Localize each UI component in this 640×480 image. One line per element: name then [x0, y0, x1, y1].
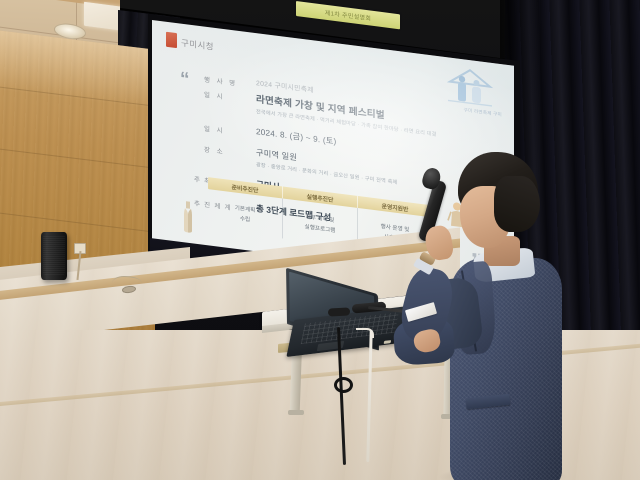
slide-row-label: 일 시	[204, 89, 225, 102]
slide-logo-mark-icon	[166, 32, 177, 48]
laptop-keyboard[interactable]	[301, 312, 399, 344]
presenter-hair-side	[494, 176, 540, 232]
slide-table-cell: 기본계획 수립	[208, 189, 283, 238]
slide-logo-text: 구미시청	[181, 37, 214, 53]
presenter	[398, 150, 598, 480]
slide-row-label: 행 사 명	[204, 74, 238, 88]
slide-date-value: 2024. 8. (금) ~ 9. (토)	[256, 125, 336, 147]
slide-row-label: 장 소	[204, 144, 225, 157]
slide-bottle-illustration-icon	[180, 200, 196, 236]
photo-scene: 구미시청 “ ” 행 사 명 2024 구미시민축제 일 시 라면축제 가창 및…	[0, 0, 640, 480]
laptop-port	[384, 340, 392, 344]
slide-open-quote: “	[180, 70, 190, 90]
desk-mic-base	[328, 307, 350, 316]
cable-coil	[334, 377, 353, 393]
slide-table-cell-line: 수립	[240, 215, 250, 226]
table-foot	[288, 410, 304, 415]
event-banner-text: 제1차 주민설명회	[325, 8, 371, 23]
pa-speaker	[41, 232, 67, 280]
slide-row-label: 일 시	[204, 123, 225, 136]
